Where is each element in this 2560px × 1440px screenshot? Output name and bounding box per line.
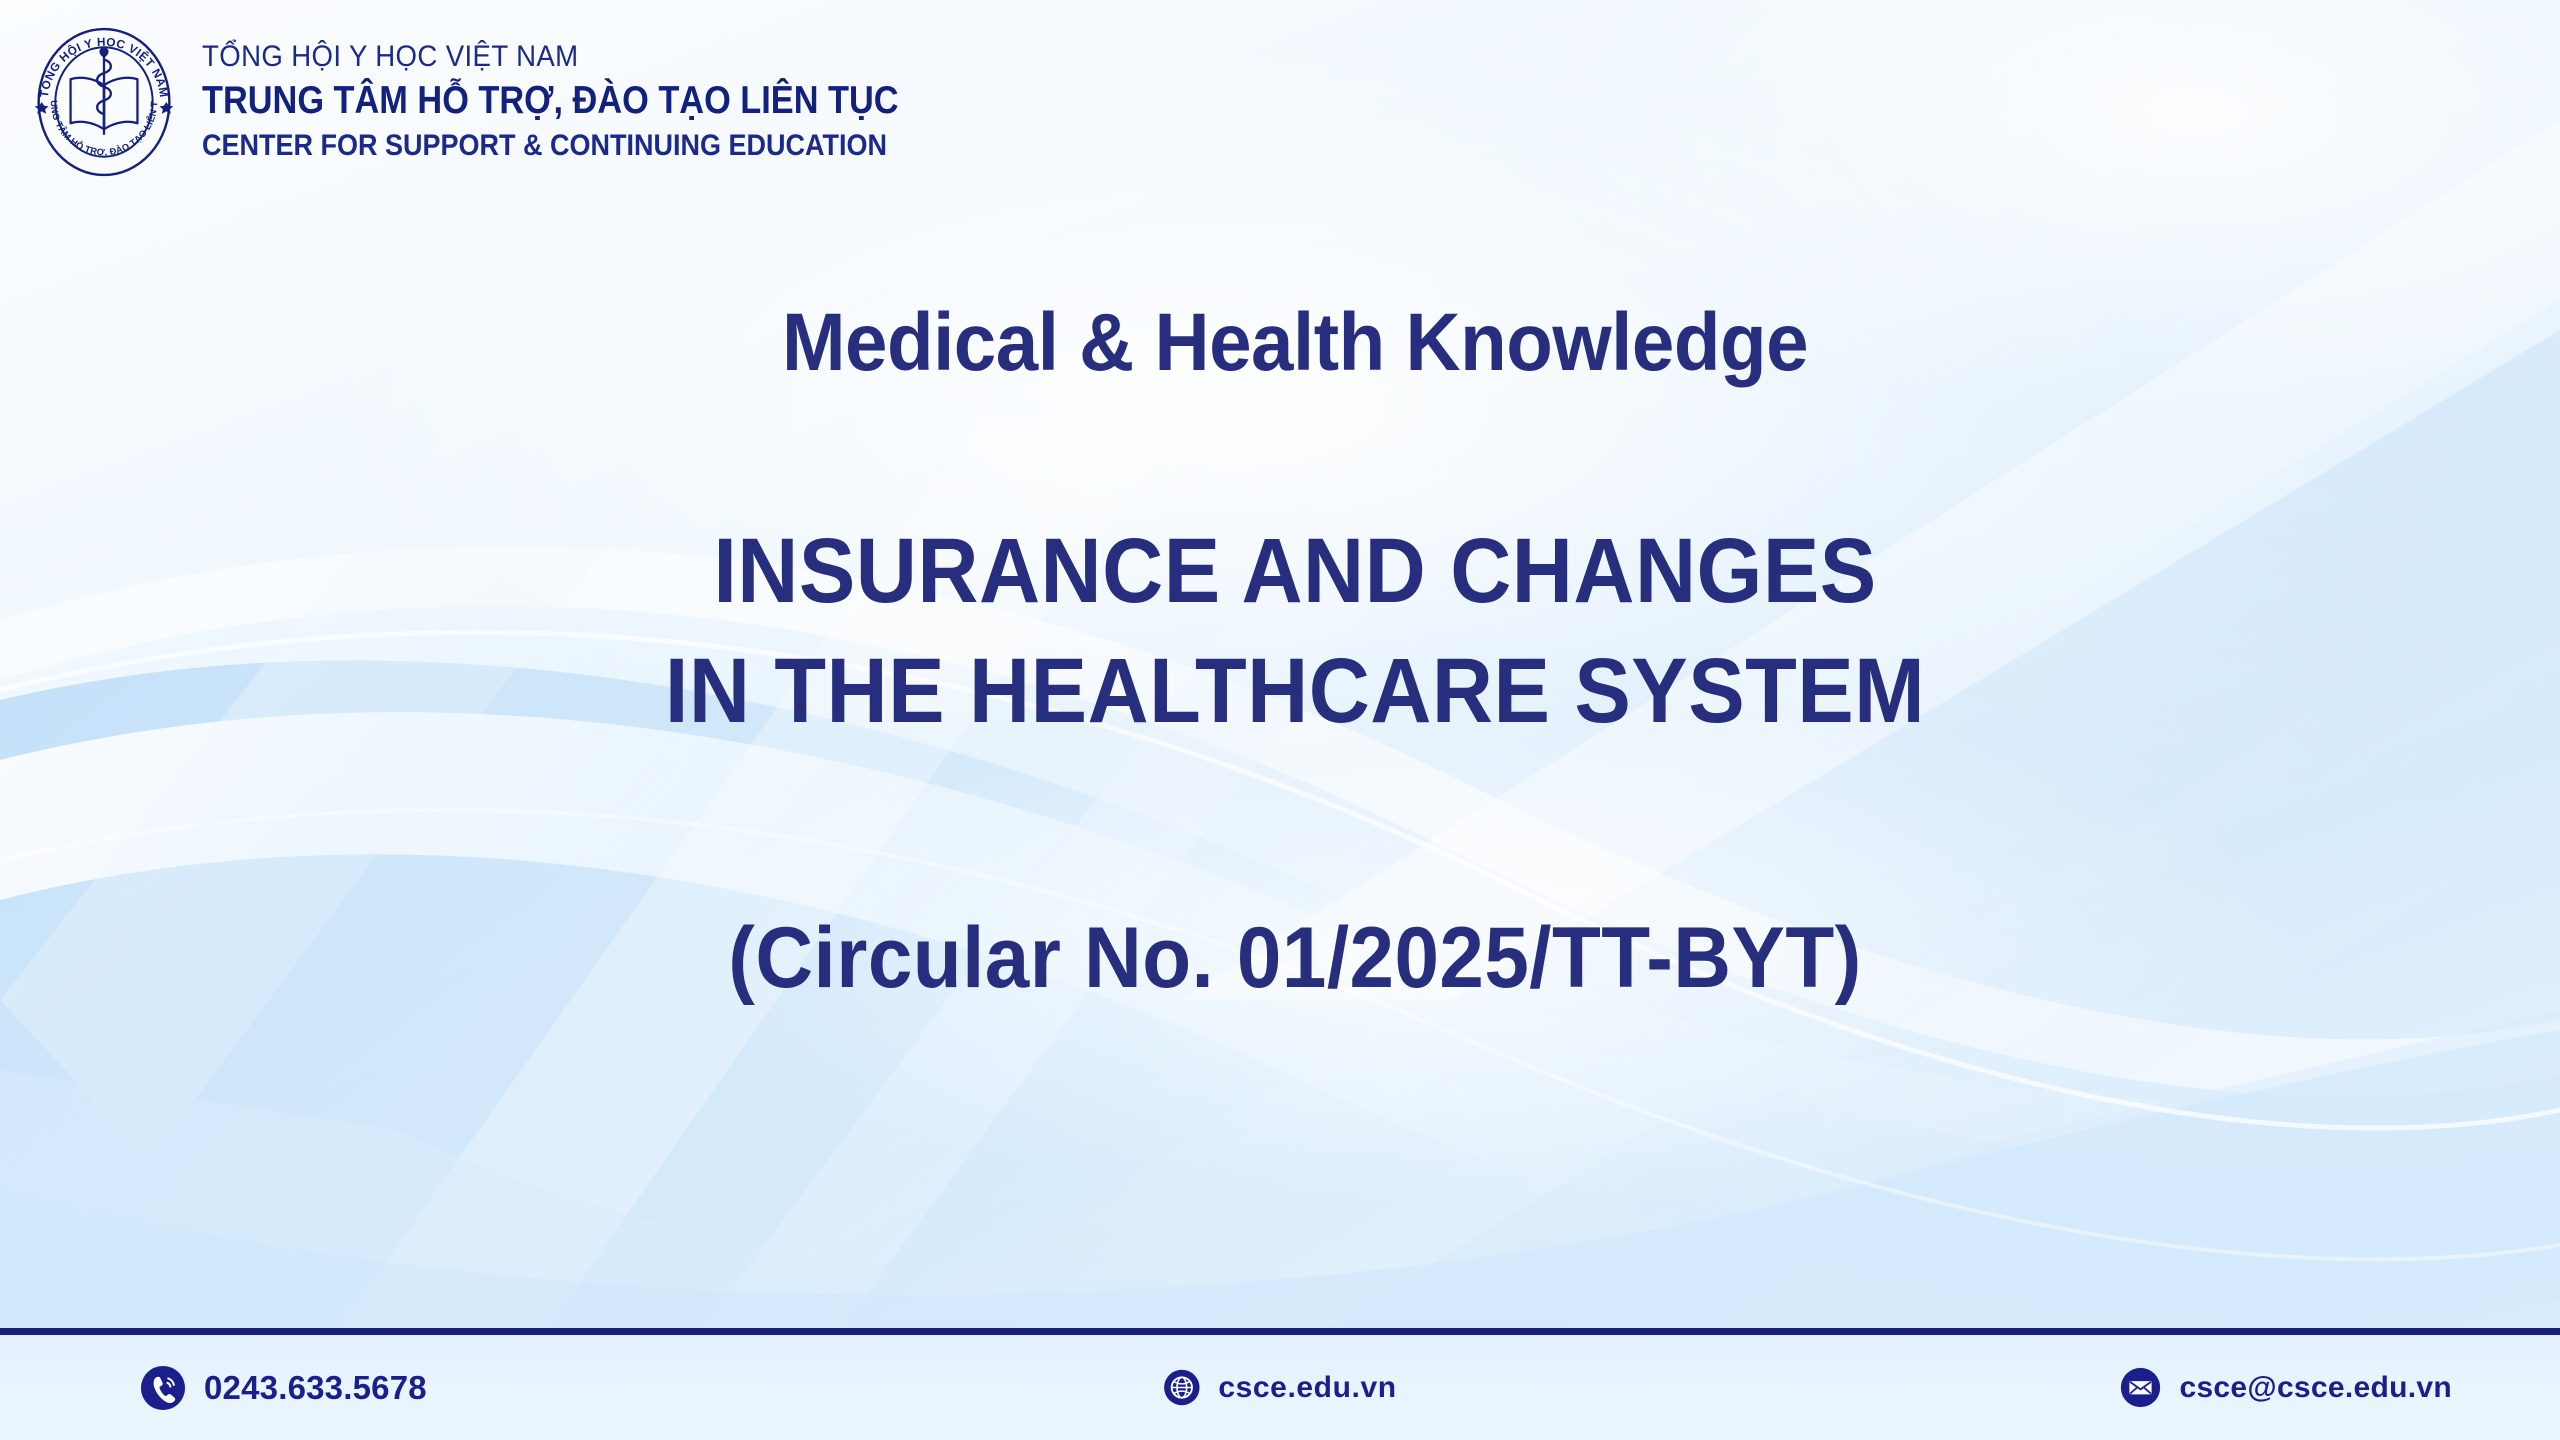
footer-website-value: csce.edu.vn xyxy=(1218,1371,1396,1405)
vma-seal-emblem-icon: TỔNG HỘI Y HỌC VIỆT NAM TRUNG TÂM HỖ TRỢ… xyxy=(28,26,180,178)
org-line-center-vi: TRUNG TÂM HỖ TRỢ, ĐÀO TẠO LIÊN TỤC xyxy=(202,78,899,124)
footer-phone[interactable]: 0243.633.5678 xyxy=(140,1365,427,1411)
phone-icon xyxy=(140,1365,186,1411)
footer-phone-value: 0243.633.5678 xyxy=(204,1369,427,1407)
slide-reference: (Circular No. 01/2025/TT-BYT) xyxy=(119,911,2472,1006)
footer-email-value: csce@csce.edu.vn xyxy=(2179,1371,2452,1405)
title-slide: TỔNG HỘI Y HỌC VIỆT NAM TRUNG TÂM HỖ TRỢ… xyxy=(0,0,2560,1440)
footer-email[interactable]: csce@csce.edu.vn xyxy=(2120,1367,2452,1408)
main-title-line-1: INSURANCE AND CHANGES xyxy=(131,512,2459,632)
title-block: Medical & Health Knowledge INSURANCE AND… xyxy=(0,300,2560,1006)
slide-main-title: INSURANCE AND CHANGES IN THE HEALTHCARE … xyxy=(131,512,2459,751)
org-line-association: TỔNG HỘI Y HỌC VIỆT NAM xyxy=(202,40,930,75)
envelope-icon xyxy=(2120,1367,2161,1408)
organization-name-block: TỔNG HỘI Y HỌC VIỆT NAM TRUNG TÂM HỖ TRỢ… xyxy=(202,40,994,164)
footer-website[interactable]: csce.edu.vn xyxy=(1163,1369,1396,1406)
globe-icon xyxy=(1163,1369,1200,1406)
org-line-center-en: CENTER FOR SUPPORT & CONTINUING EDUCATIO… xyxy=(202,128,914,164)
organization-logo: TỔNG HỘI Y HỌC VIỆT NAM TRUNG TÂM HỖ TRỢ… xyxy=(28,26,994,178)
slide-kicker: Medical & Health Knowledge xyxy=(119,300,2472,386)
main-title-line-2: IN THE HEALTHCARE SYSTEM xyxy=(131,632,2459,752)
contact-footer: 0243.633.5678 csce.edu.vn csce@csce.edu.… xyxy=(0,1328,2560,1440)
